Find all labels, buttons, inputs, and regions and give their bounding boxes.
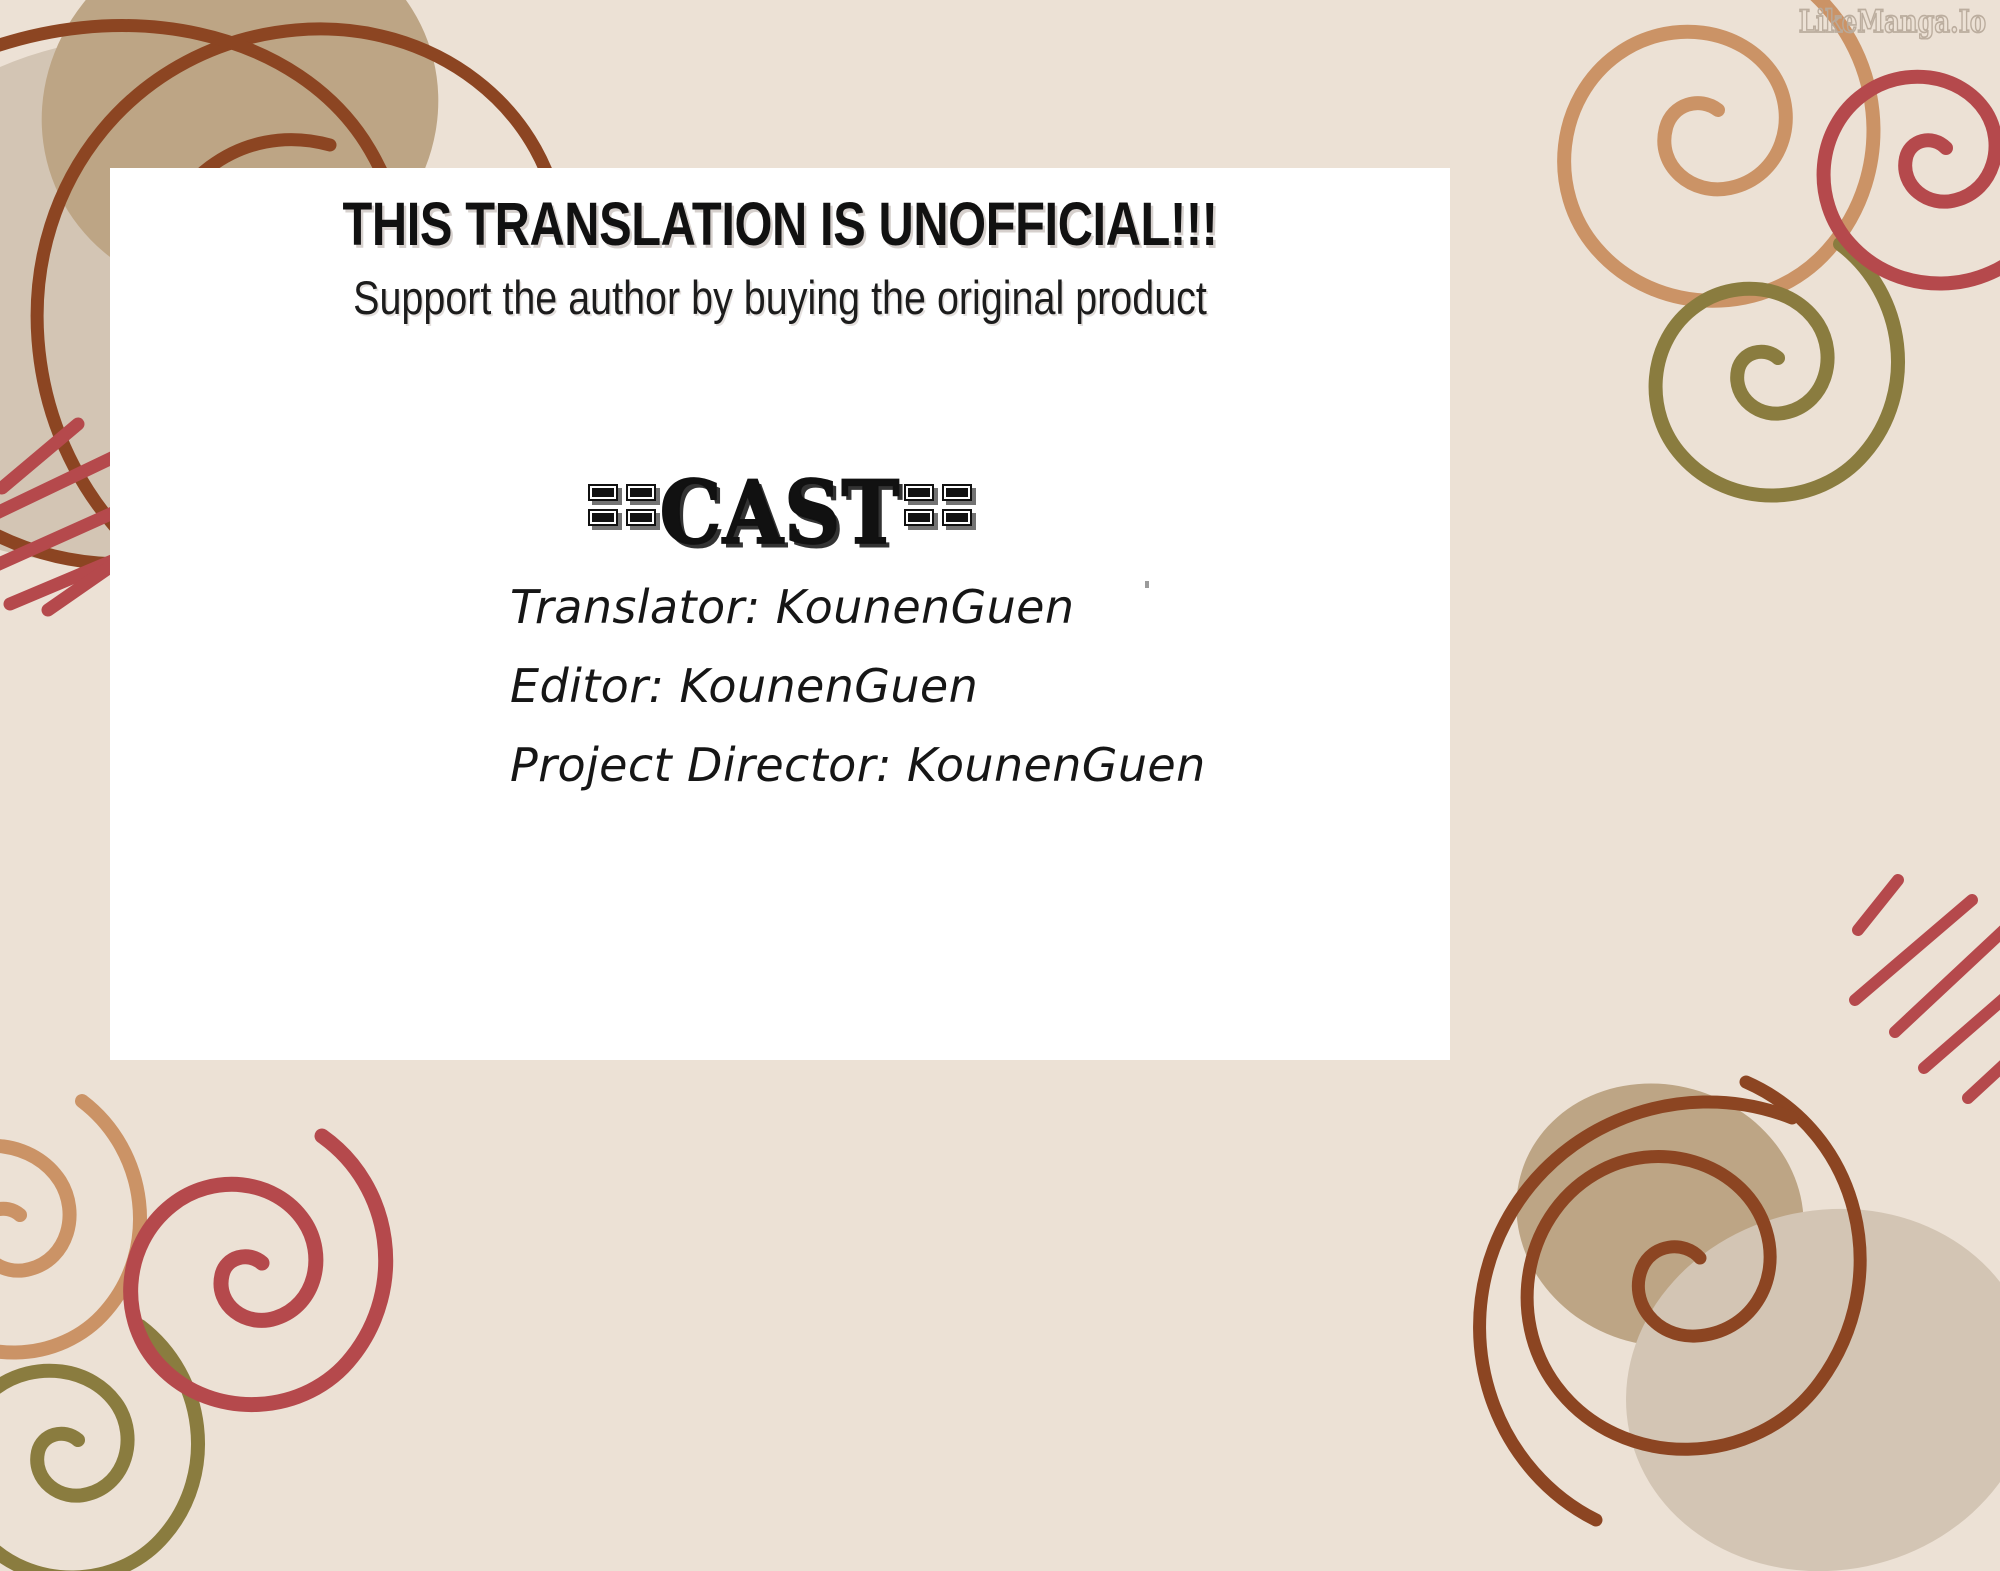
cast-separator bbox=[892, 738, 907, 792]
cast-heading-word: CAST bbox=[660, 463, 901, 565]
support-subtitle: Support the author by buying the origina… bbox=[217, 272, 1343, 325]
cast-row: Editor: KounenGuen bbox=[510, 647, 1206, 726]
hatch-strokes-bottom-right bbox=[1855, 880, 2000, 1098]
spiral-bottom-left-olive bbox=[0, 1326, 198, 1571]
cast-member-name: KounenGuen bbox=[679, 659, 978, 713]
spiral-right-olive bbox=[1656, 244, 1898, 496]
spiral-far-right-crimson bbox=[1824, 77, 2000, 284]
cast-role-label: Project Director: bbox=[510, 738, 892, 792]
cast-rule-left-icon bbox=[588, 484, 656, 544]
spiral-bottom-left-crimson bbox=[131, 1136, 386, 1405]
cast-rule-right-icon bbox=[904, 484, 972, 544]
page-title: THIS TRANSLATION IS UNOFFICIAL!!! bbox=[244, 192, 1316, 258]
cast-separator bbox=[761, 580, 776, 634]
dust-speck bbox=[1145, 581, 1149, 588]
credits-page: LikeManga.Io THIS TRANSLATION IS UNOFFIC… bbox=[0, 0, 2000, 1571]
cast-row: Translator: KounenGuen bbox=[510, 568, 1206, 647]
content-card: THIS TRANSLATION IS UNOFFICIAL!!! Suppor… bbox=[110, 168, 1450, 1060]
cast-role-label: Editor: bbox=[510, 659, 664, 713]
spiral-bottom-left-caramel bbox=[0, 1101, 140, 1353]
cast-list: Translator: KounenGuen Editor: KounenGue… bbox=[510, 568, 1206, 805]
cast-row: Project Director: KounenGuen bbox=[510, 726, 1206, 805]
cast-separator bbox=[664, 659, 679, 713]
cast-member-name: KounenGuen bbox=[907, 738, 1206, 792]
cast-role-label: Translator: bbox=[510, 580, 761, 634]
spiral-bottom-right-rust bbox=[1480, 1082, 1861, 1520]
cast-member-name: KounenGuen bbox=[776, 580, 1075, 634]
spiral-top-right-caramel bbox=[1564, 0, 1873, 301]
header-block: THIS TRANSLATION IS UNOFFICIAL!!! Suppor… bbox=[110, 192, 1450, 325]
blob-group-bottom-right bbox=[1482, 1047, 2000, 1571]
cast-heading: CAST bbox=[110, 468, 1450, 559]
site-watermark: LikeManga.Io bbox=[1799, 4, 1986, 39]
